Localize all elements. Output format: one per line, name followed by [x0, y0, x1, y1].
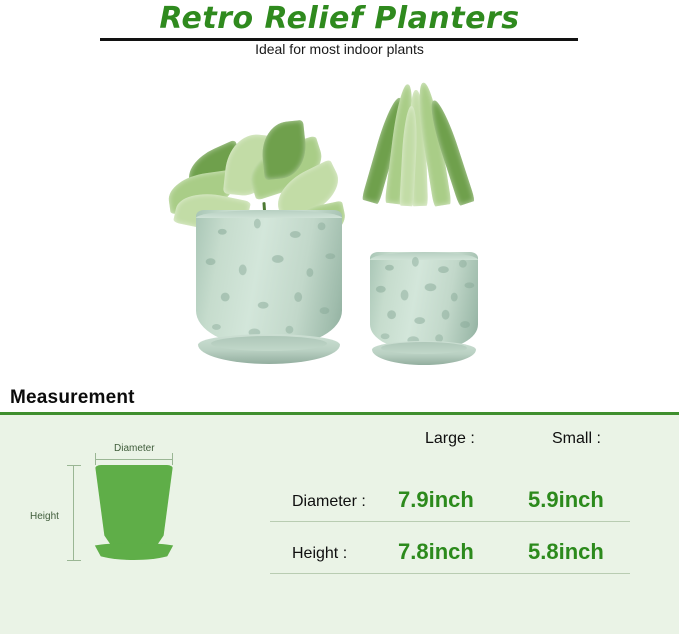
row-label-height: Height :	[292, 545, 347, 563]
measurement-heading: Measurement	[10, 387, 135, 409]
diameter-tick-left	[95, 453, 96, 465]
small-planter-pot	[370, 252, 478, 350]
diameter-dimension-label: Diameter	[114, 443, 155, 454]
saucer-inner	[381, 342, 466, 354]
diameter-tick-right	[172, 453, 173, 465]
floral-relief-texture	[370, 252, 478, 350]
column-header-large: Large :	[425, 430, 475, 448]
measurement-panel: Diameter Height Large : Small : Diameter…	[0, 415, 679, 634]
diagram-pot-shape	[95, 465, 173, 547]
large-planter-saucer	[198, 334, 340, 364]
page-subtitle: Ideal for most indoor plants	[0, 41, 679, 57]
row-label-diameter: Diameter :	[292, 493, 366, 511]
floral-relief-texture	[196, 210, 342, 346]
measurement-table: Large : Small : Diameter : 7.9inch 5.9in…	[270, 415, 679, 634]
row-underline	[270, 573, 630, 574]
column-header-small: Small :	[552, 430, 601, 448]
height-tick-top	[67, 465, 81, 466]
large-planter-pot	[196, 210, 342, 346]
row-underline	[270, 521, 630, 522]
small-planter-saucer	[372, 341, 476, 365]
saucer-inner	[211, 336, 327, 351]
height-small-value: 5.8inch	[528, 539, 604, 565]
height-dimension-line	[73, 465, 74, 561]
table-row: Height : 7.8inch 5.8inch	[270, 539, 630, 585]
diameter-dimension-line	[95, 459, 173, 460]
table-row: Diameter : 7.9inch 5.9inch	[270, 487, 630, 533]
diagram-saucer-shape	[88, 543, 180, 560]
height-dimension-label: Height	[30, 511, 59, 522]
height-tick-bottom	[67, 560, 81, 561]
dimension-diagram: Diameter Height	[0, 415, 270, 634]
product-photo	[0, 62, 679, 380]
diameter-small-value: 5.9inch	[528, 487, 604, 513]
diameter-large-value: 7.9inch	[398, 487, 474, 513]
page-title: Retro Relief Planters	[0, 1, 679, 36]
header-banner: Retro Relief Planters Ideal for most ind…	[0, 0, 679, 62]
height-large-value: 7.8inch	[398, 539, 474, 565]
